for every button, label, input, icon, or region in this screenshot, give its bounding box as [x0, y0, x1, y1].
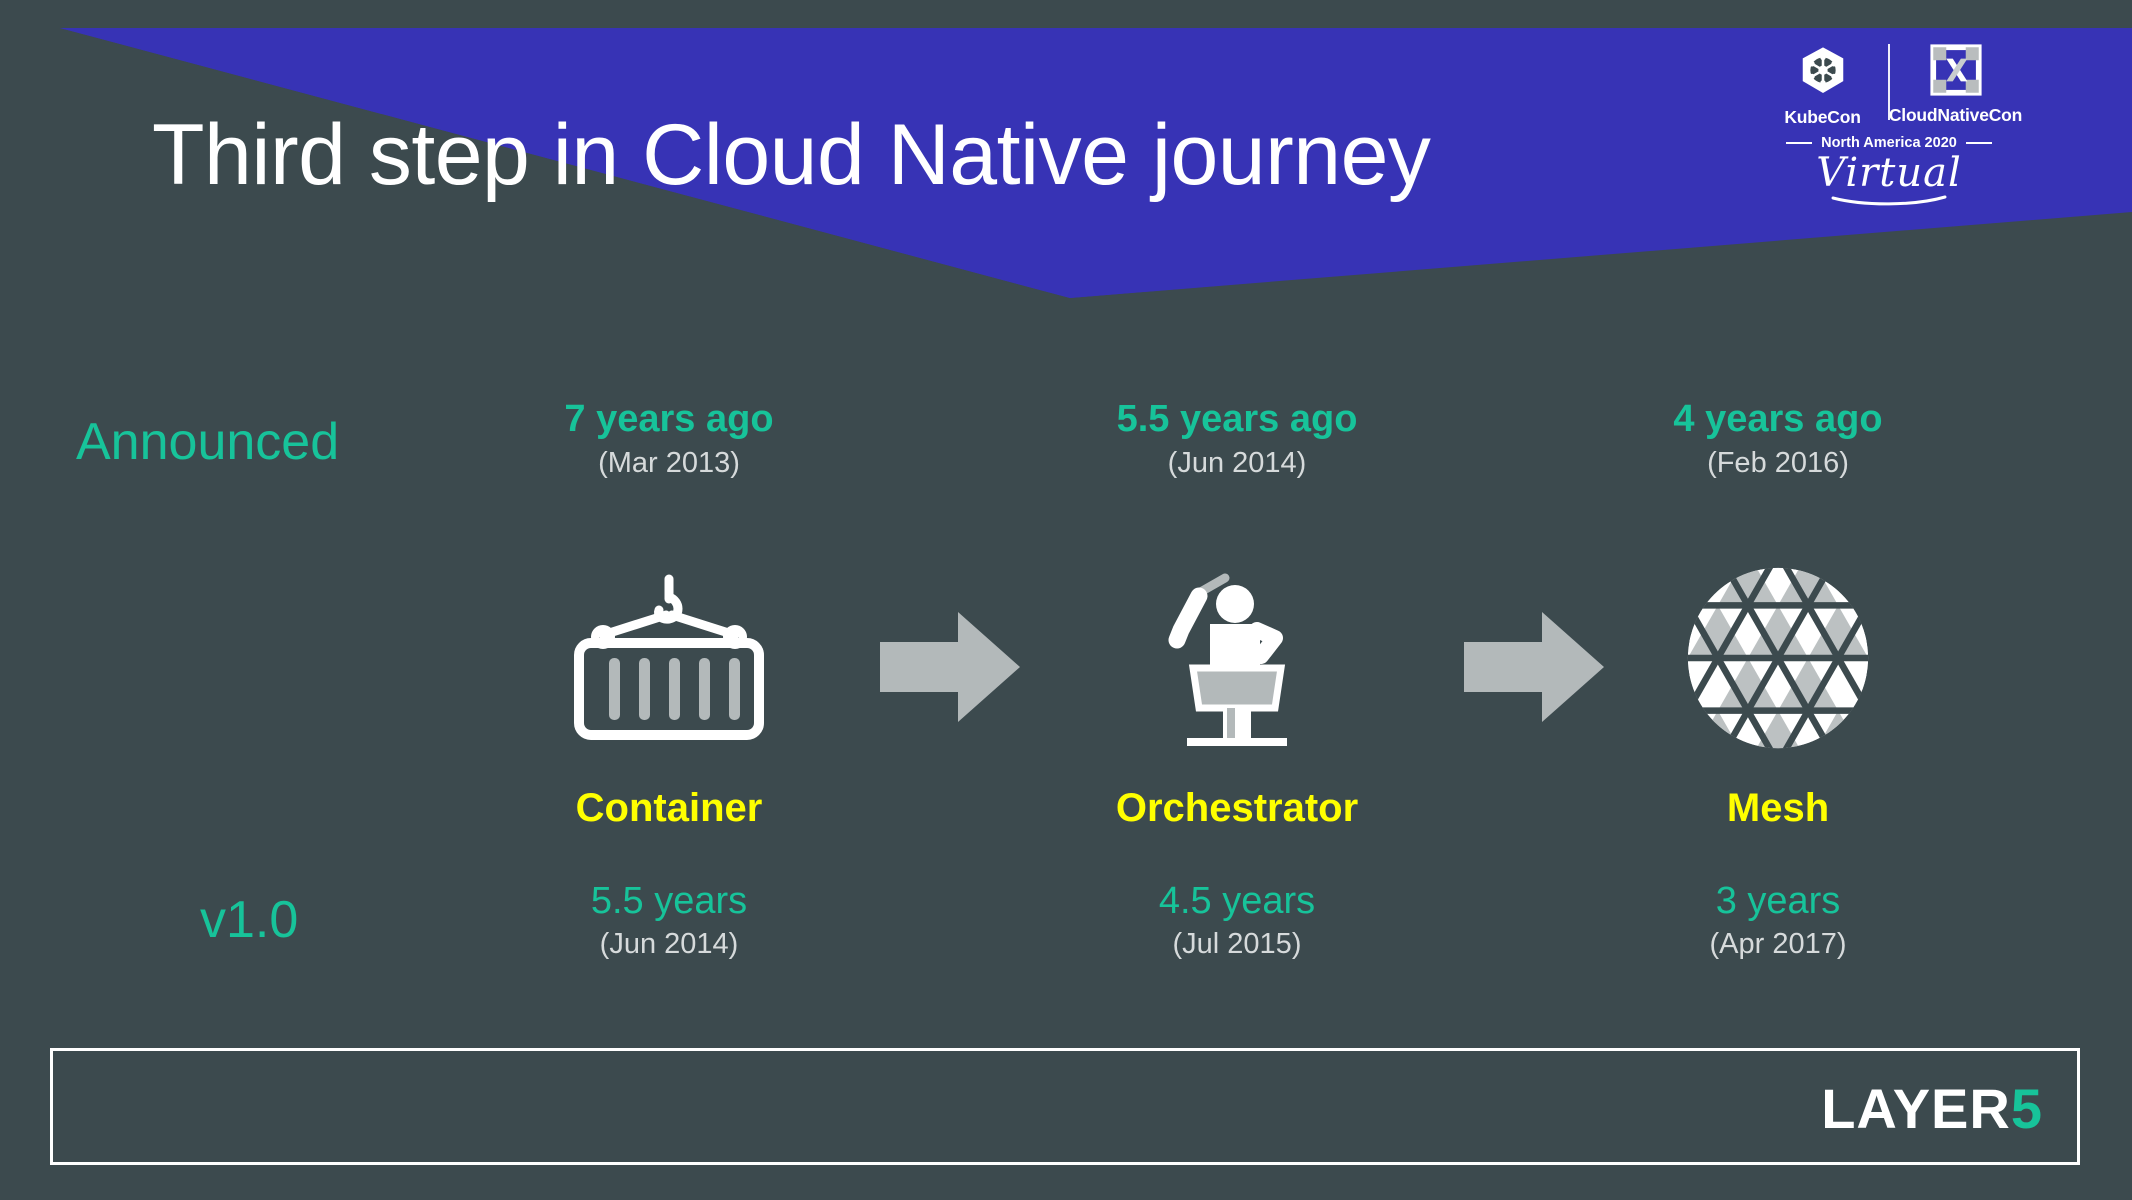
shipping-container-icon: [569, 573, 769, 748]
column-icon-wrapper: [504, 560, 834, 760]
layer5-logo: LAYER5: [1821, 1081, 2043, 1137]
announced-date: (Jun 2014): [1072, 447, 1402, 480]
v1-date: (Jun 2014): [504, 928, 834, 961]
announced-age: 7 years ago: [504, 398, 834, 442]
right-arrow-icon: [1464, 612, 1604, 722]
row-label-announced: Announced: [76, 412, 339, 472]
kubecon-block: KubeCon: [1765, 44, 1880, 128]
conference-logo-top: KubeCon CloudNativeCon: [1756, 44, 2022, 126]
v1-date: (Jul 2015): [1072, 928, 1402, 961]
conductor-podium-icon: [1157, 568, 1317, 753]
announced-date: (Feb 2016): [1613, 447, 1943, 480]
announced-block: 7 years ago (Mar 2013): [504, 398, 834, 480]
category-name: Mesh: [1613, 786, 1943, 831]
slide-root: Third step in Cloud Native journey: [0, 0, 2132, 1200]
logo-divider: [1888, 44, 1890, 120]
conference-logo: KubeCon CloudNativeCon: [1756, 44, 2022, 244]
column-icon-wrapper: [1613, 560, 1943, 760]
v1-block: 5.5 years (Jun 2014): [504, 880, 834, 961]
kubecon-label: KubeCon: [1784, 107, 1860, 128]
category-name: Orchestrator: [1072, 786, 1402, 831]
mesh-circle-icon: [1684, 564, 1872, 757]
announced-age: 4 years ago: [1613, 398, 1943, 442]
kubernetes-helm-icon: [1796, 44, 1850, 103]
rule-right: [1966, 142, 1992, 144]
announced-age: 5.5 years ago: [1072, 398, 1402, 442]
announced-date: (Mar 2013): [504, 447, 834, 480]
conference-format: Virtual: [1756, 153, 2022, 193]
cloudnativecon-label: CloudNativeCon: [1889, 105, 2022, 126]
announced-block: 5.5 years ago (Jun 2014): [1072, 398, 1402, 480]
v1-block: 4.5 years (Jul 2015): [1072, 880, 1402, 961]
category-block: Mesh: [1613, 786, 1943, 831]
rule-left: [1786, 142, 1812, 144]
layer5-number: 5: [2011, 1077, 2043, 1140]
footer-frame: LAYER5: [50, 1048, 2080, 1165]
v1-age: 3 years: [1613, 880, 1943, 924]
v1-date: (Apr 2017): [1613, 928, 1943, 961]
cloudnativecon-block: CloudNativeCon: [1898, 44, 2013, 126]
conference-edition-row: North America 2020: [1756, 135, 2022, 151]
page-title: Third step in Cloud Native journey: [152, 108, 1430, 203]
cncf-square-icon: [1930, 44, 1982, 101]
v1-age: 4.5 years: [1072, 880, 1402, 924]
v1-block: 3 years (Apr 2017): [1613, 880, 1943, 961]
virtual-underline-swoosh: [1829, 194, 1949, 206]
right-arrow-icon: [880, 612, 1020, 722]
category-block: Container: [504, 786, 834, 831]
category-block: Orchestrator: [1072, 786, 1402, 831]
announced-block: 4 years ago (Feb 2016): [1613, 398, 1943, 480]
layer5-wordmark: LAYER: [1821, 1077, 2011, 1140]
category-name: Container: [504, 786, 834, 831]
column-icon-wrapper: [1072, 560, 1402, 760]
v1-age: 5.5 years: [504, 880, 834, 924]
row-label-v1: v1.0: [200, 890, 298, 950]
conference-edition: North America 2020: [1821, 135, 1957, 151]
